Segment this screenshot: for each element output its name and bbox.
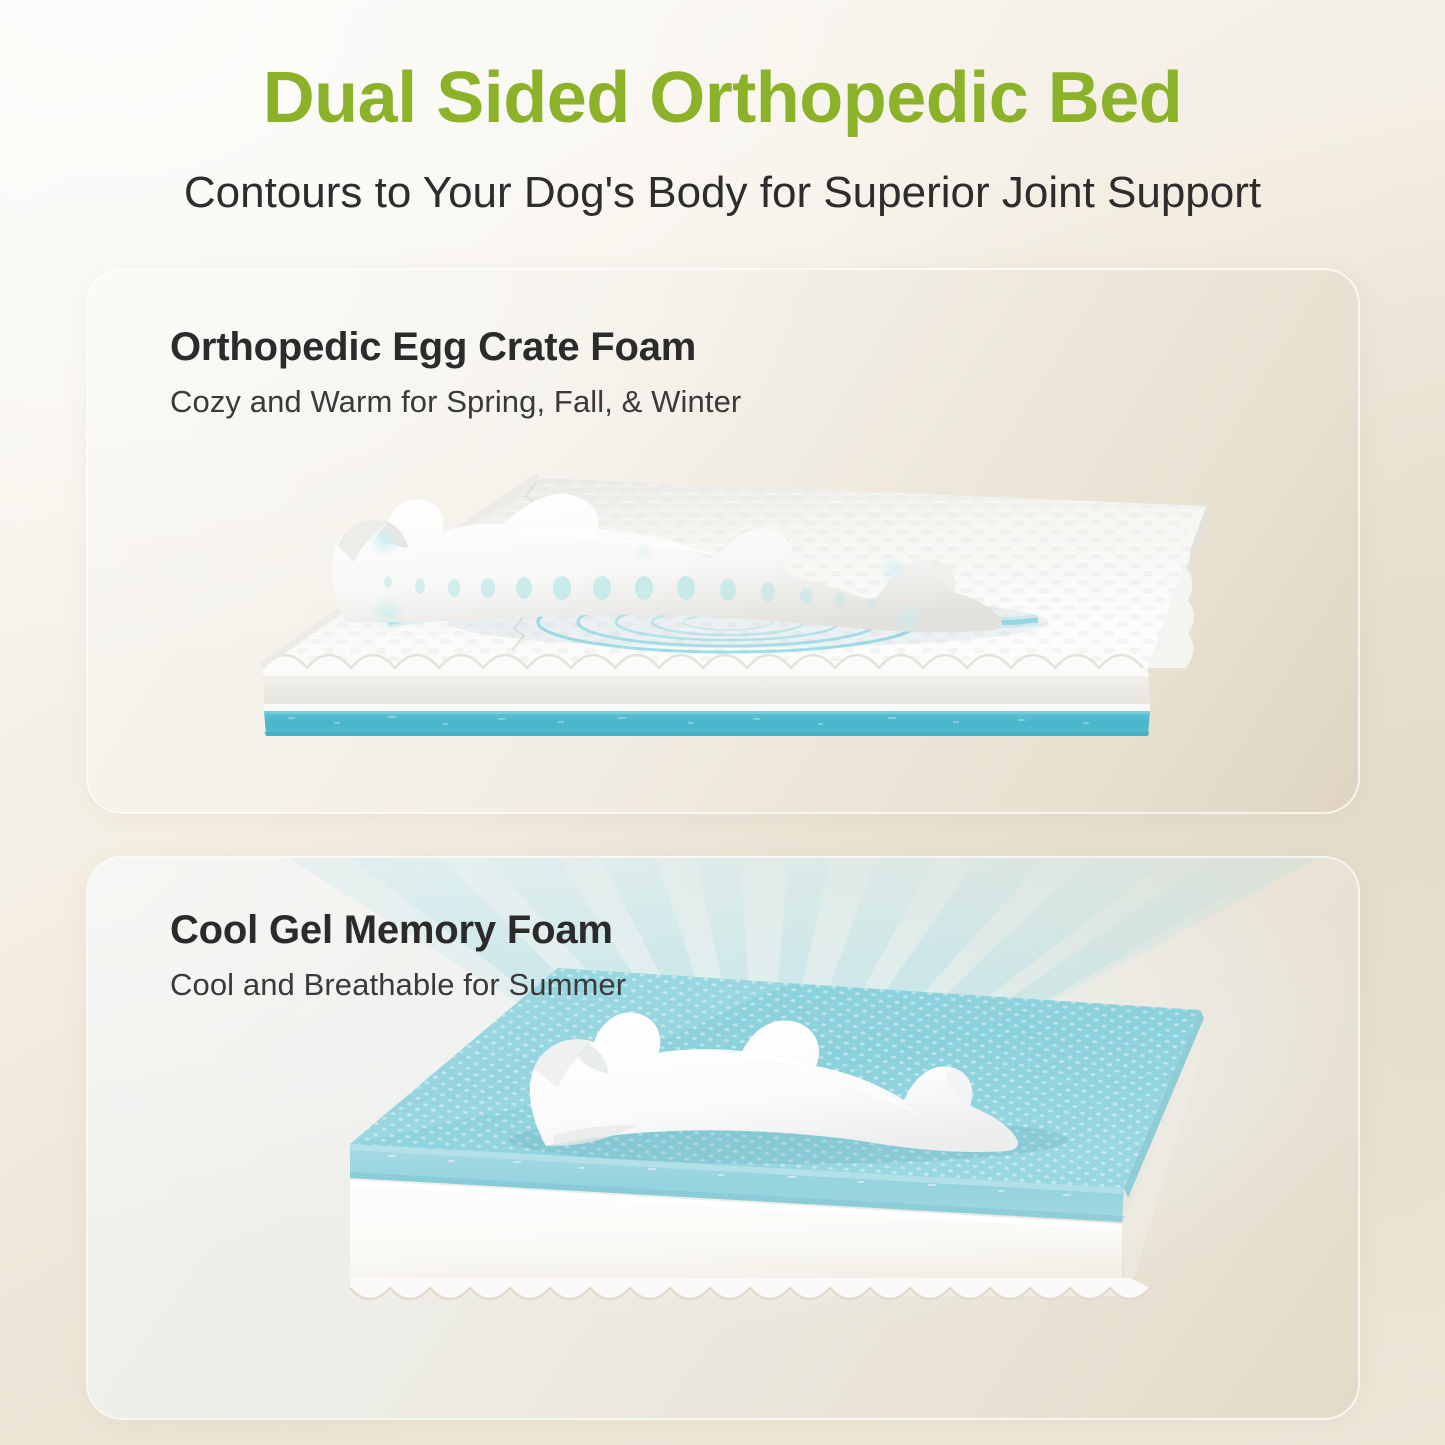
card-subtitle: Cool and Breathable for Summer [170, 968, 626, 1002]
card-header-cool-gel: Cool Gel Memory Foam Cool and Breathable… [170, 908, 626, 1002]
card-subtitle: Cozy and Warm for Spring, Fall, & Winter [170, 385, 741, 419]
card-title: Cool Gel Memory Foam [170, 908, 626, 952]
page-subtitle: Contours to Your Dog's Body for Superior… [0, 168, 1445, 219]
page-title: Dual Sided Orthopedic Bed [0, 62, 1445, 134]
feature-card-cool-gel: Cool Gel Memory Foam Cool and Breathable… [88, 858, 1358, 1418]
card-title: Orthopedic Egg Crate Foam [170, 325, 741, 369]
feature-card-egg-crate: Orthopedic Egg Crate Foam Cozy and Warm … [88, 270, 1358, 812]
infographic-page: Dual Sided Orthopedic Bed Contours to Yo… [0, 0, 1445, 1445]
teal-base-strip [264, 710, 1150, 736]
card-header-egg-crate: Orthopedic Egg Crate Foam Cozy and Warm … [170, 325, 741, 419]
